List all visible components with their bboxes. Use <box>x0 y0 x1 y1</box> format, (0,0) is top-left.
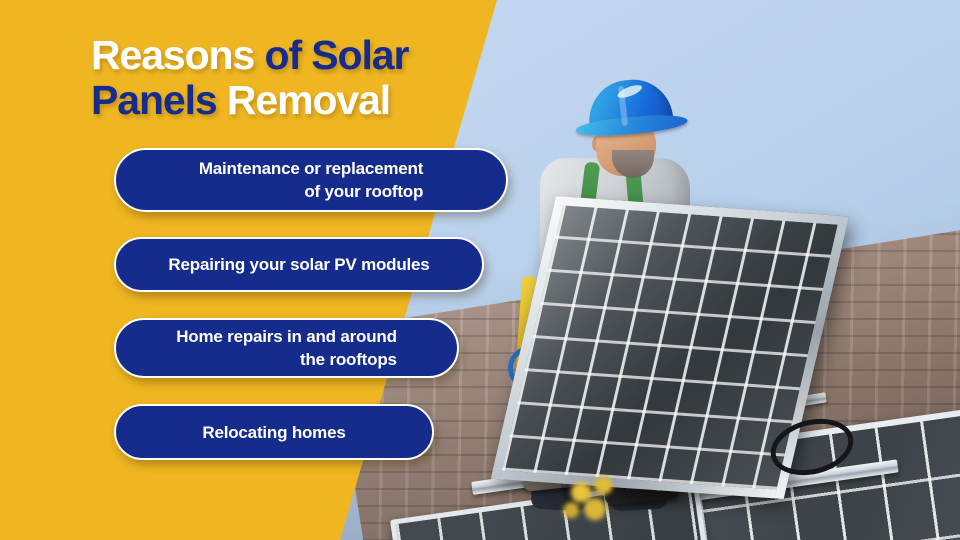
reason-pill-1-line-1: Maintenance or replacement <box>199 159 423 178</box>
reason-pill-1-text: Maintenance or replacement of your rooft… <box>199 157 423 203</box>
reason-pill-4-text: Relocating homes <box>202 421 345 444</box>
reason-pill-1[interactable]: Maintenance or replacement of your rooft… <box>114 148 508 212</box>
title-word-reasons: Reasons <box>91 32 265 78</box>
reason-pill-2-text: Repairing your solar PV modules <box>168 253 429 276</box>
reason-pill-2[interactable]: Repairing your solar PV modules <box>114 237 484 292</box>
page-title-line-1: Reasons of Solar <box>91 33 511 78</box>
title-word-panels: Panels <box>91 77 227 123</box>
reason-pill-3[interactable]: Home repairs in and around the rooftops <box>114 318 459 378</box>
reason-pill-4[interactable]: Relocating homes <box>114 404 434 460</box>
foreground-foliage <box>560 470 630 526</box>
infographic-canvas: Reasons of Solar Panels Removal Maintena… <box>0 0 960 540</box>
hard-hat-icon <box>586 76 674 135</box>
title-word-removal: Removal <box>227 77 390 123</box>
reason-pill-3-line-1: Home repairs in and around <box>176 327 397 346</box>
page-title-line-2: Panels Removal <box>91 78 511 123</box>
reason-pill-3-line-2: the rooftops <box>176 348 397 371</box>
page-title: Reasons of Solar Panels Removal <box>91 33 511 123</box>
reason-pill-1-line-2: of your rooftop <box>199 180 423 203</box>
title-word-of-solar: of Solar <box>265 32 409 78</box>
reason-pill-3-text: Home repairs in and around the rooftops <box>176 325 397 371</box>
